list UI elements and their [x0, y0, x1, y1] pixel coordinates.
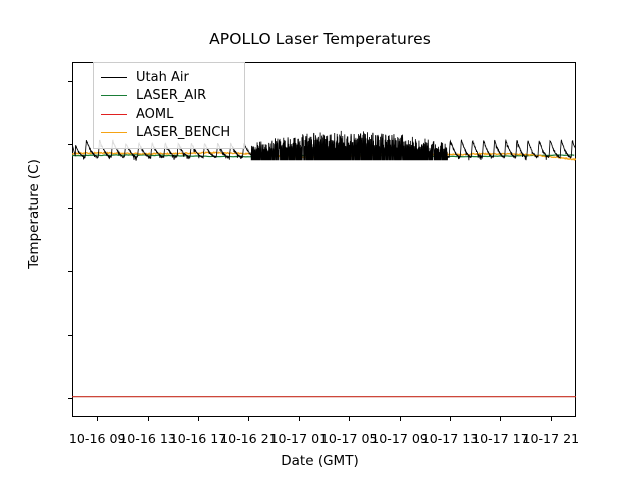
x-tick-label: 10-17 13	[422, 431, 479, 446]
legend-item: LASER_BENCH	[101, 124, 237, 143]
legend-item: AOML	[101, 105, 237, 124]
x-tick-label: 10-17 09	[371, 431, 428, 446]
chart-figure: APOLLO Laser Temperatures Temperature (C…	[0, 0, 640, 480]
chart-legend: Utah AirLASER_AIRAOMLLASER_BENCH	[93, 62, 245, 149]
legend-item-label: Utah Air	[136, 70, 189, 85]
x-tick-mark	[148, 417, 149, 421]
x-tick-label: 10-16 09	[69, 431, 126, 446]
legend-item-label: LASER_BENCH	[136, 125, 230, 140]
x-axis-label: Date (GMT)	[0, 453, 640, 469]
x-tick-label: 10-17 01	[270, 431, 327, 446]
x-tick-label: 10-16 13	[119, 431, 176, 446]
x-tick-label: 10-16 17	[170, 431, 227, 446]
legend-color-swatch	[101, 132, 127, 133]
x-tick-mark	[450, 417, 451, 421]
x-tick-mark	[551, 417, 552, 421]
x-tick-label: 10-17 17	[472, 431, 529, 446]
legend-item: Utah Air	[101, 68, 237, 87]
x-tick-label: 10-17 21	[522, 431, 579, 446]
x-tick-mark	[97, 417, 98, 421]
y-axis-label: Temperature (C)	[26, 64, 42, 364]
legend-color-swatch	[101, 95, 127, 96]
legend-color-swatch	[101, 77, 127, 78]
x-tick-mark	[198, 417, 199, 421]
legend-item-label: LASER_AIR	[136, 88, 206, 103]
legend-item: LASER_AIR	[101, 87, 237, 106]
x-tick-mark	[500, 417, 501, 421]
x-tick-mark	[248, 417, 249, 421]
x-tick-label: 10-16 21	[220, 431, 277, 446]
x-tick-label: 10-17 05	[321, 431, 378, 446]
legend-color-swatch	[101, 114, 127, 115]
chart-title: APOLLO Laser Temperatures	[0, 30, 640, 48]
x-tick-mark	[299, 417, 300, 421]
legend-item-label: AOML	[136, 107, 173, 122]
x-tick-mark	[400, 417, 401, 421]
x-tick-mark	[349, 417, 350, 421]
